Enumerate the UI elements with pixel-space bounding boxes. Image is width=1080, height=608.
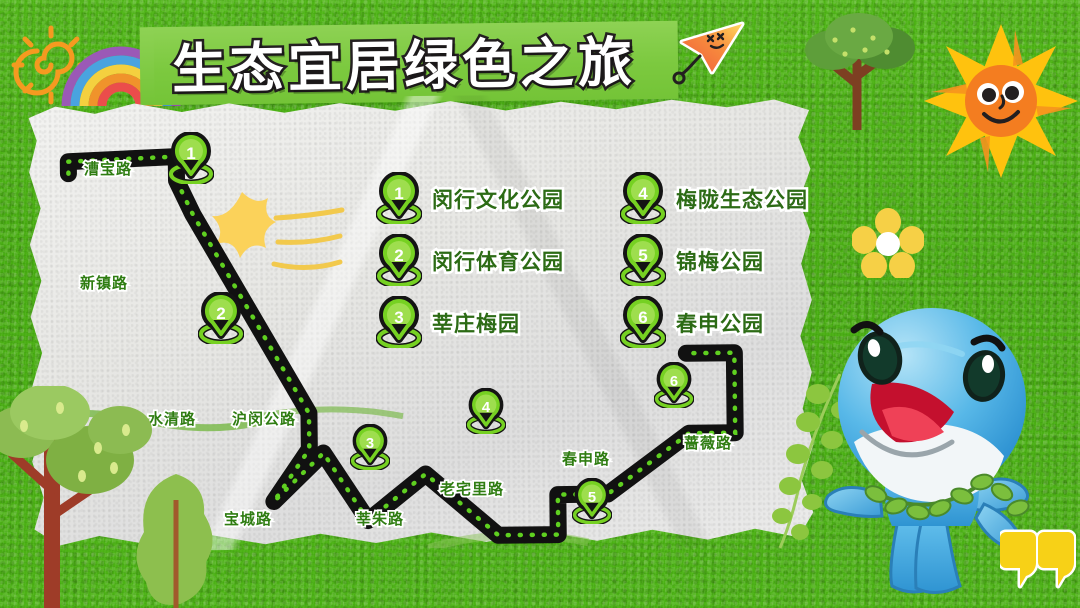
legend-pin-number: 6 xyxy=(638,308,647,327)
street-label: 蔷薇路 xyxy=(684,432,732,453)
pin-number: 3 xyxy=(366,436,374,452)
legend-pin-5: 5 xyxy=(620,234,666,286)
map-pin-6[interactable]: 6 xyxy=(654,362,694,408)
street-label: 老宅里路 xyxy=(440,478,504,499)
pin-number: 1 xyxy=(186,144,195,163)
street-label: 沪闵公路 xyxy=(232,408,296,429)
legend-label: 闵行体育公园 xyxy=(432,246,564,276)
map-pin-4[interactable]: 4 xyxy=(466,388,506,434)
legend-pin-number: 5 xyxy=(638,246,647,265)
legend-pin-number: 1 xyxy=(394,184,403,203)
street-label: 新镇路 xyxy=(80,272,128,293)
pin-number: 2 xyxy=(216,304,225,323)
flower-icon xyxy=(852,208,924,278)
legend-pin-number: 2 xyxy=(394,246,403,265)
legend-label: 春申公园 xyxy=(676,308,764,338)
legend-label: 闵行文化公园 xyxy=(432,184,564,214)
street-label: 宝城路 xyxy=(224,508,272,529)
poster-canvas: 生态宜居绿色之旅 xyxy=(0,0,1080,608)
map-pin-3[interactable]: 3 xyxy=(350,424,390,470)
street-label: 春申路 xyxy=(562,448,610,469)
legend-label: 梅陇生态公园 xyxy=(676,184,808,214)
legend-label: 莘庄梅园 xyxy=(432,308,520,338)
legend-pin-1: 1 xyxy=(376,172,422,224)
pin-number: 5 xyxy=(588,490,596,506)
bush-icon xyxy=(128,470,224,608)
legend-pin-6: 6 xyxy=(620,296,666,348)
quote-mark-icon xyxy=(1000,528,1076,590)
sun-icon xyxy=(922,22,1080,180)
legend-pin-number: 3 xyxy=(394,308,403,327)
map-pin-5[interactable]: 5 xyxy=(572,478,612,524)
legend-pin-2: 2 xyxy=(376,234,422,286)
legend-pin-4: 4 xyxy=(620,172,666,224)
map-pin-2[interactable]: 2 xyxy=(198,292,244,344)
street-label: 莘朱路 xyxy=(356,508,404,529)
pin-number: 6 xyxy=(670,374,678,390)
legend-pin-number: 4 xyxy=(638,184,648,203)
legend-pin-3: 3 xyxy=(376,296,422,348)
page-title: 生态宜居绿色之旅 xyxy=(172,32,693,100)
pin-number: 4 xyxy=(482,400,491,416)
legend-label: 锦梅公园 xyxy=(676,246,764,276)
map-pin-1[interactable]: 1 xyxy=(168,132,214,184)
street-label: 漕宝路 xyxy=(84,158,132,179)
paper-plane-icon xyxy=(668,16,754,102)
